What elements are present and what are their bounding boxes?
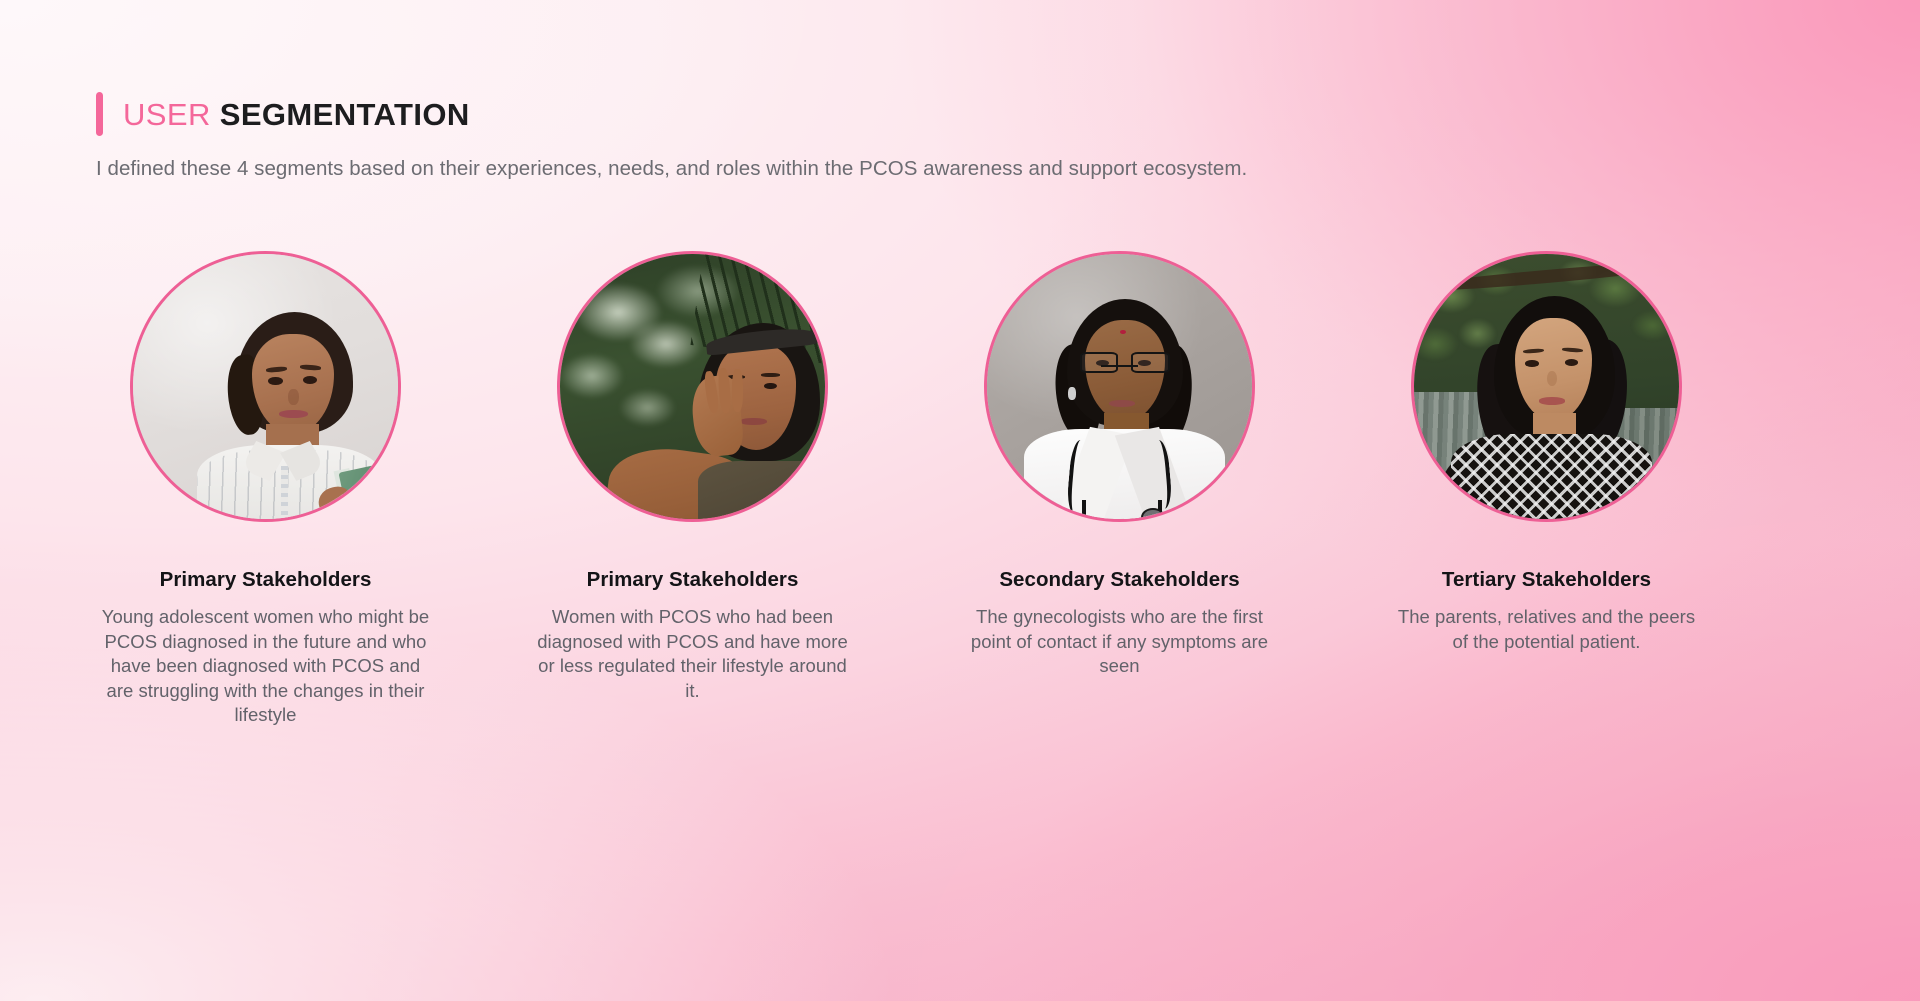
jacket-shape (698, 461, 825, 519)
finger-3 (732, 369, 743, 411)
patterned-top-print (1451, 434, 1652, 519)
segment-description: Women with PCOS who had been diagnosed w… (533, 605, 853, 703)
portrait-gynecologist-with-stethoscope-image (987, 254, 1252, 519)
segment-cards-strip: Primary Stakeholders Young adolescent wo… (0, 251, 1920, 728)
eyeglass-lens-right (1131, 352, 1170, 373)
page-subtitle: I defined these 4 segments based on thei… (96, 157, 1247, 181)
earring-shape (1068, 387, 1076, 400)
page-title: USER SEGMENTATION (96, 92, 470, 136)
eyeglasses-shape (1080, 352, 1170, 373)
segment-title: Primary Stakeholders (587, 568, 799, 592)
lips-shape (1539, 397, 1566, 404)
user-segmentation-slide: USER SEGMENTATION I defined these 4 segm… (0, 0, 1920, 1001)
lips-shape (1109, 400, 1136, 407)
avatar (1411, 251, 1682, 522)
portrait-adolescent-student-with-notebook-image (133, 254, 398, 519)
segment-card: Secondary Stakeholders The gynecologists… (906, 251, 1333, 728)
segment-description: The gynecologists who are the first poin… (960, 605, 1280, 679)
eyeglass-lens-left (1080, 352, 1119, 373)
lips-shape (740, 418, 767, 425)
bindi-shape (1120, 330, 1126, 335)
page-title-text: USER SEGMENTATION (123, 99, 470, 130)
avatar (984, 251, 1255, 522)
segment-title: Primary Stakeholders (160, 568, 372, 592)
slide-header: USER SEGMENTATION (96, 92, 470, 136)
segment-card: Tertiary Stakeholders The parents, relat… (1333, 251, 1760, 728)
segment-description: The parents, relatives and the peers of … (1392, 605, 1702, 654)
avatar (130, 251, 401, 522)
segment-description: Young adolescent women who might be PCOS… (101, 605, 431, 728)
segment-title: Secondary Stakeholders (999, 568, 1239, 592)
shirt-placket (281, 466, 288, 519)
title-accent-bar (96, 92, 103, 136)
eyebrow-right (761, 373, 780, 377)
eye-left (1525, 360, 1538, 367)
segment-card: Primary Stakeholders Young adolescent wo… (52, 251, 479, 728)
portrait-pensive-woman-outdoors-image (560, 254, 825, 519)
nose-shape (288, 389, 299, 405)
segment-title: Tertiary Stakeholders (1442, 568, 1651, 592)
avatar (557, 251, 828, 522)
eye-right (1565, 359, 1578, 366)
segment-cards-section: Primary Stakeholders Young adolescent wo… (0, 251, 1920, 728)
page-title-word-secondary: SEGMENTATION (220, 97, 470, 132)
portrait-woman-patterned-top-garden-image (1414, 254, 1679, 519)
page-title-word-primary: USER (123, 97, 211, 132)
eyeglass-bridge (1101, 365, 1138, 367)
stethoscope-chestpiece (1141, 508, 1165, 519)
page-title-space (211, 97, 220, 132)
segment-card: Primary Stakeholders Women with PCOS who… (479, 251, 906, 728)
